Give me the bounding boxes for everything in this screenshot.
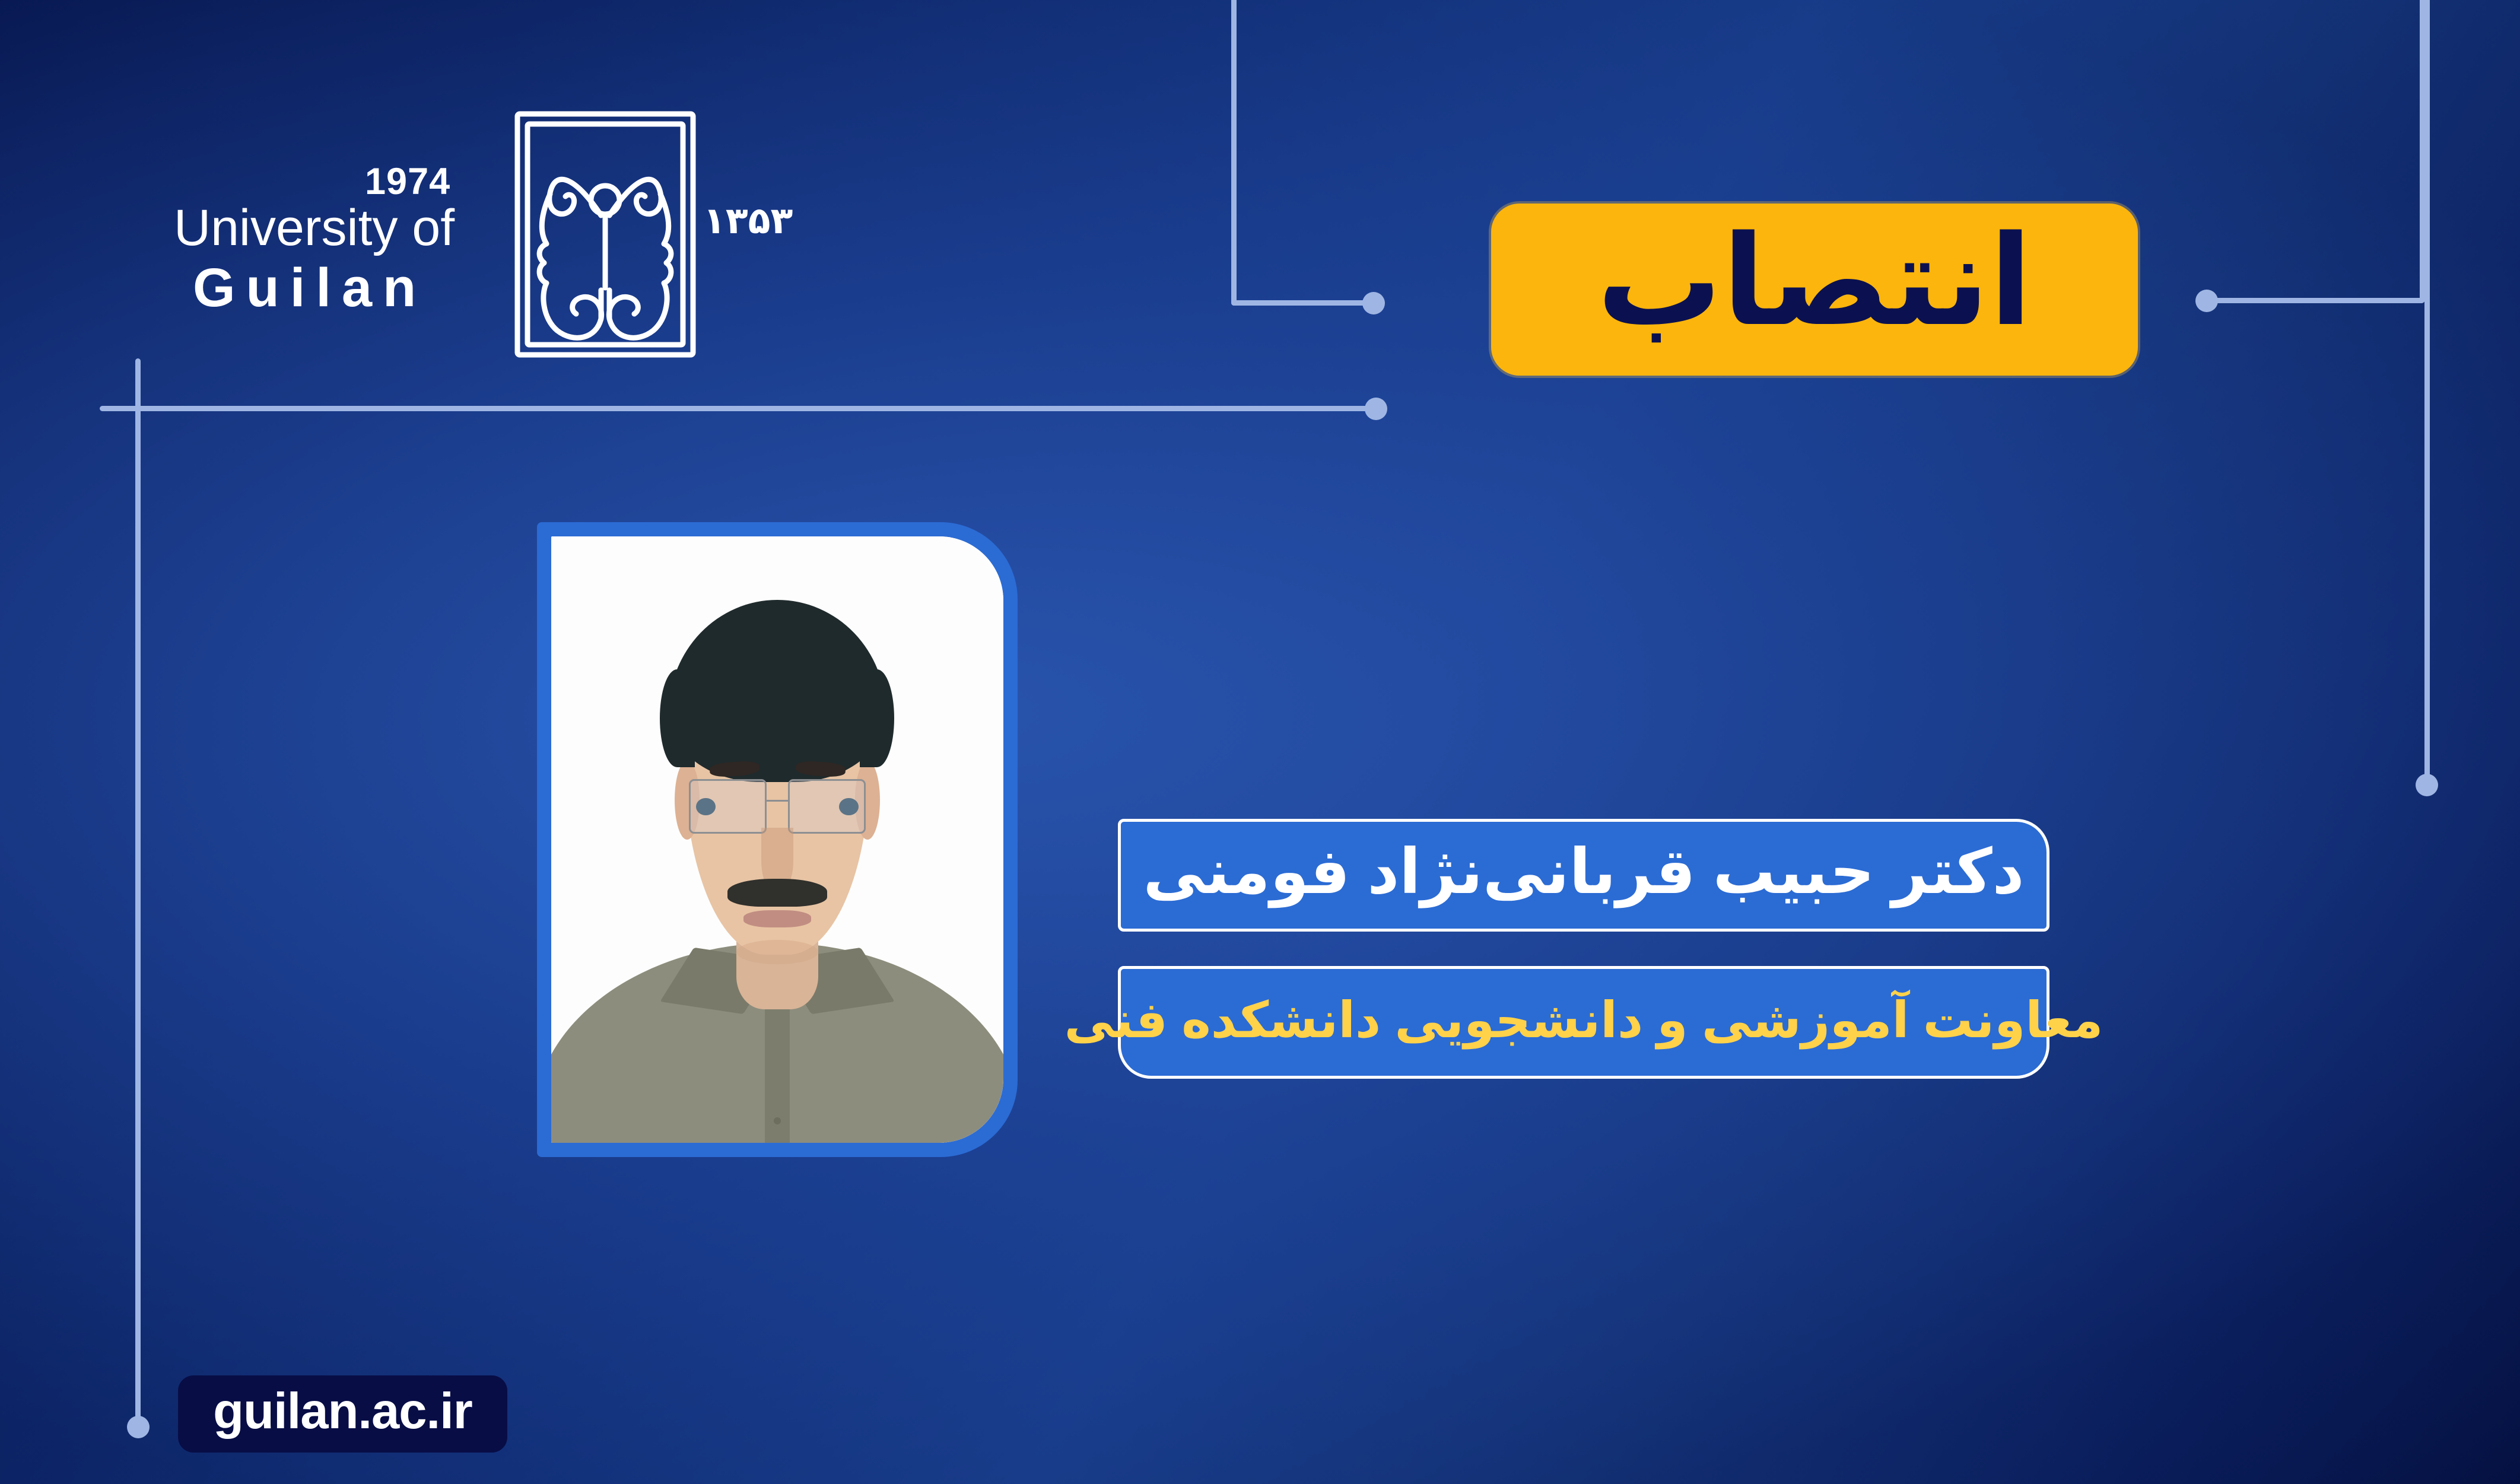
decor-line-left-vertical (135, 358, 141, 1426)
logo-university-line2: Guilan (193, 257, 427, 319)
logo-university-line1: University of (174, 199, 455, 258)
logo-year-en: 1974 (365, 160, 450, 203)
decor-dot-left-bottom (127, 1416, 150, 1438)
logo-english-text: 1974 University of Guilan (169, 104, 501, 365)
decor-line-top-left-horizontal (1231, 300, 1374, 306)
person-position-banner: معاونت آموزشی و دانشجویی دانشکده فنی (1118, 966, 2049, 1079)
person-position: معاونت آموزشی و دانشجویی دانشکده فنی (1064, 995, 2103, 1045)
guilan-butterfly-emblem-icon (513, 110, 697, 359)
decor-line-right-vertical (2424, 0, 2430, 783)
decor-dot-top-right (2195, 290, 2218, 312)
decor-dot-upper-right (1365, 398, 1387, 420)
poster-canvas: 1974 University of Guilan ۱۳۵۳ دانشگاه گ… (0, 0, 2520, 1484)
portrait-frame (537, 522, 1018, 1157)
appointment-badge: انتصاب (1491, 204, 2138, 376)
person-name-banner: دکتر حبیب قربانی‌نژاد فومنی (1118, 819, 2049, 932)
portrait-photo (551, 536, 1003, 1143)
decor-dot-top-left (1362, 292, 1385, 314)
svg-text:دانشگاه گیلان: دانشگاه گیلان (1231, 198, 1237, 319)
decor-line-top-right-horizontal (2206, 298, 2424, 303)
logo-university-fa: دانشگاه گیلان (751, 104, 1237, 365)
decor-dot-right (2416, 774, 2438, 796)
person-name: دکتر حبیب قربانی‌نژاد فومنی (1143, 841, 2024, 903)
decor-line-upper-horizontal (100, 406, 1386, 411)
website-pill[interactable]: guilan.ac.ir (178, 1375, 507, 1453)
website-url: guilan.ac.ir (213, 1383, 472, 1441)
appointment-badge-label: انتصاب (1597, 219, 2032, 344)
university-logo: 1974 University of Guilan ۱۳۵۳ دانشگاه گ… (169, 104, 1237, 377)
